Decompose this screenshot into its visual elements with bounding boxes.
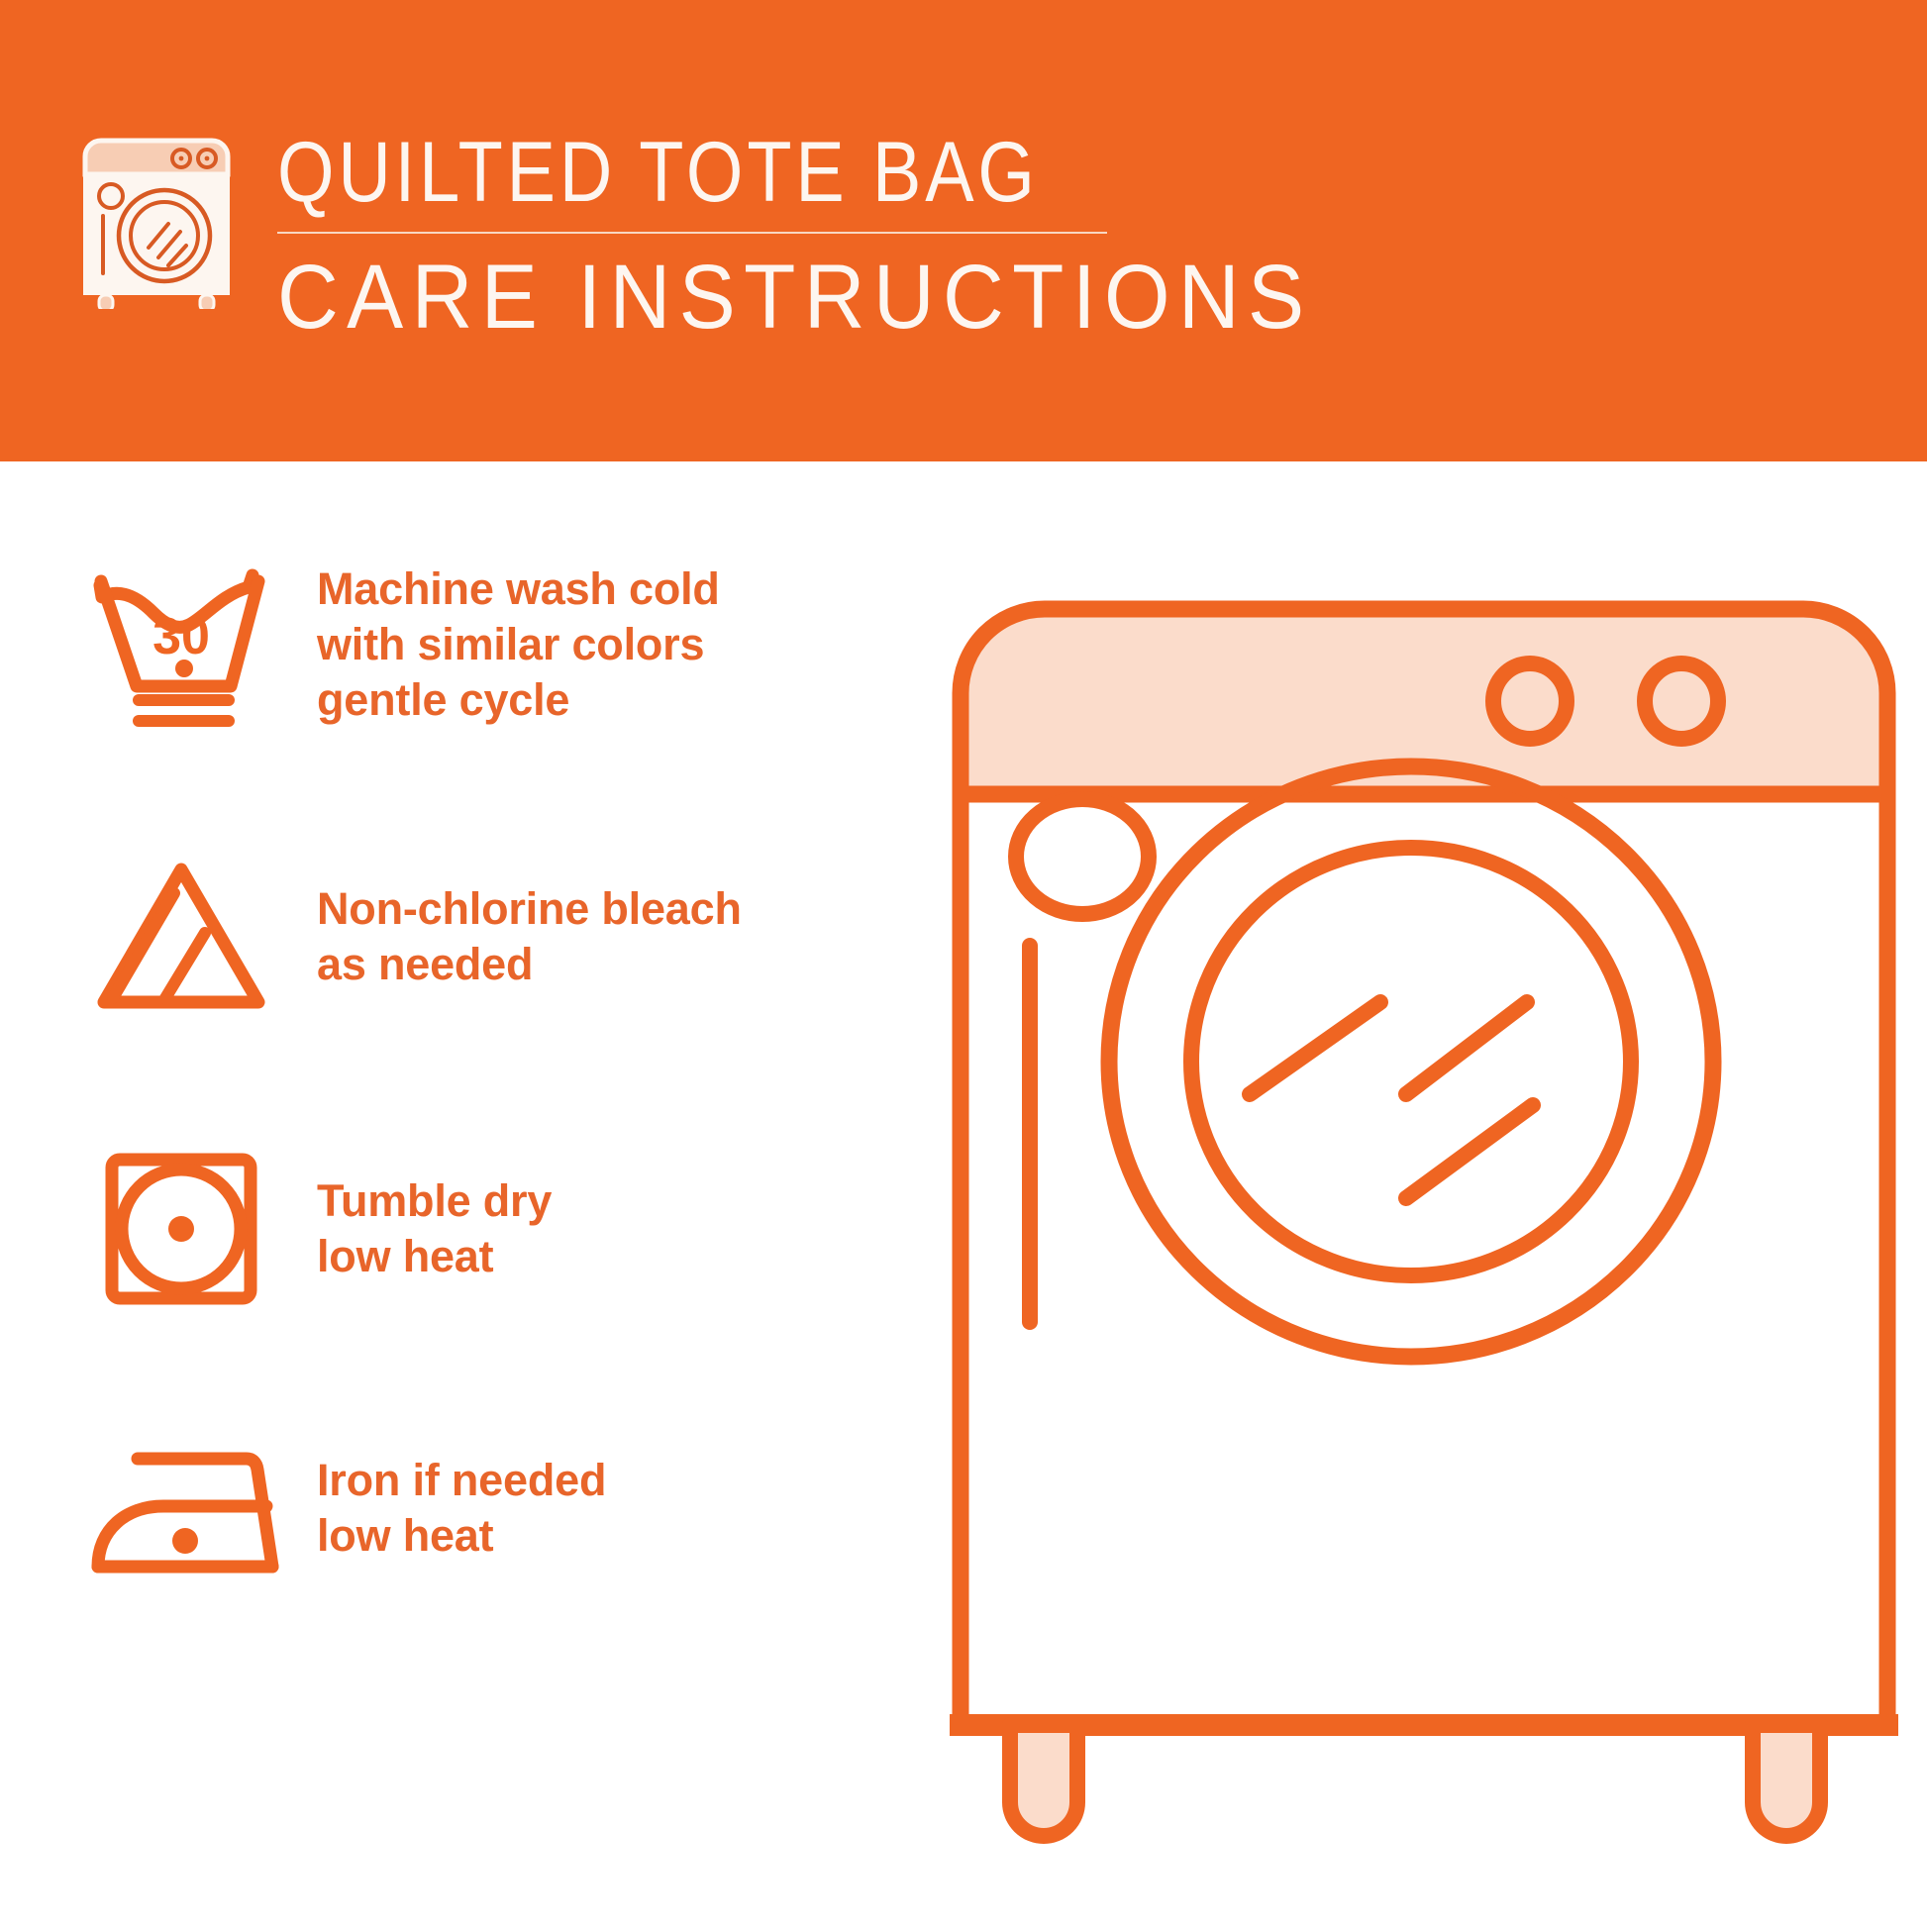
tumble-dry-low-icon <box>77 1135 285 1323</box>
iron-low-heat-icon <box>77 1414 285 1602</box>
care-row-machine-wash: 30 Machine wash cold with similar colors… <box>77 551 889 739</box>
wash-temperature-value: 30 <box>152 608 210 665</box>
care-label-machine-wash: Machine wash cold with similar colors ge… <box>317 561 889 728</box>
care-label-bleach: Non-chlorine bleach as needed <box>317 881 889 992</box>
care-label-iron: Iron if needed low heat <box>317 1453 889 1564</box>
care-instructions-list: 30 Machine wash cold with similar colors… <box>0 461 911 1927</box>
title-divider <box>277 232 1107 234</box>
page-title: QUILTED TOTE BAG <box>277 127 991 218</box>
care-row-bleach: Non-chlorine bleach as needed <box>77 843 889 1031</box>
page-subtitle: CARE INSTRUCTIONS <box>277 250 1049 345</box>
non-chlorine-bleach-triangle-icon <box>77 843 285 1031</box>
wash-tub-30-icon: 30 <box>77 551 285 739</box>
care-row-iron: Iron if needed low heat <box>77 1414 889 1602</box>
washing-machine-illustration <box>921 555 1927 1927</box>
header-content: QUILTED TOTE BAG CARE INSTRUCTIONS <box>77 127 1107 345</box>
header-banner: QUILTED TOTE BAG CARE INSTRUCTIONS <box>0 0 1927 461</box>
care-row-tumble-dry: Tumble dry low heat <box>77 1135 889 1323</box>
washing-machine-icon <box>77 129 236 309</box>
header-title-group: QUILTED TOTE BAG CARE INSTRUCTIONS <box>277 127 1107 345</box>
care-label-tumble-dry: Tumble dry low heat <box>317 1173 889 1284</box>
